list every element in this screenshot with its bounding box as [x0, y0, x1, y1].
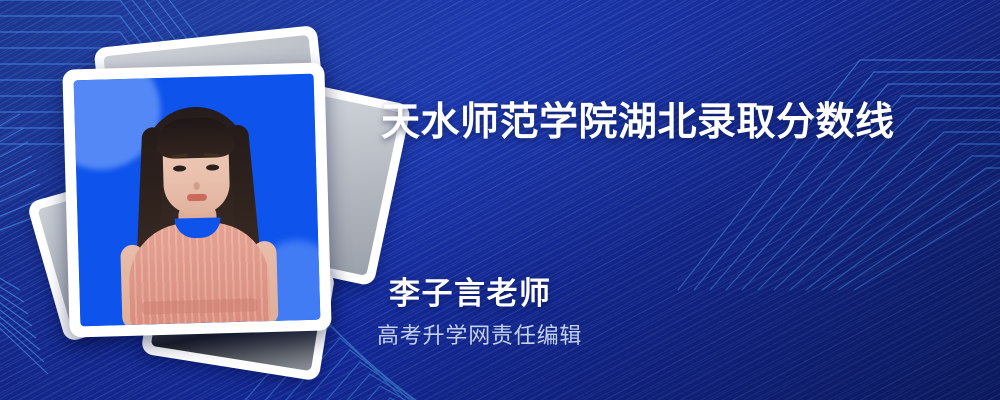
banner-text-block: 天水师范学院湖北录取分数线 李子言老师 高考升学网责任编辑 — [0, 0, 1000, 400]
school-score-banner: 天水师范学院湖北录取分数线 李子言老师 高考升学网责任编辑 — [0, 0, 1000, 400]
banner-title: 天水师范学院湖北录取分数线 — [381, 100, 895, 146]
author-role: 高考升学网责任编辑 — [377, 322, 582, 350]
author-name: 李子言老师 — [389, 276, 552, 312]
